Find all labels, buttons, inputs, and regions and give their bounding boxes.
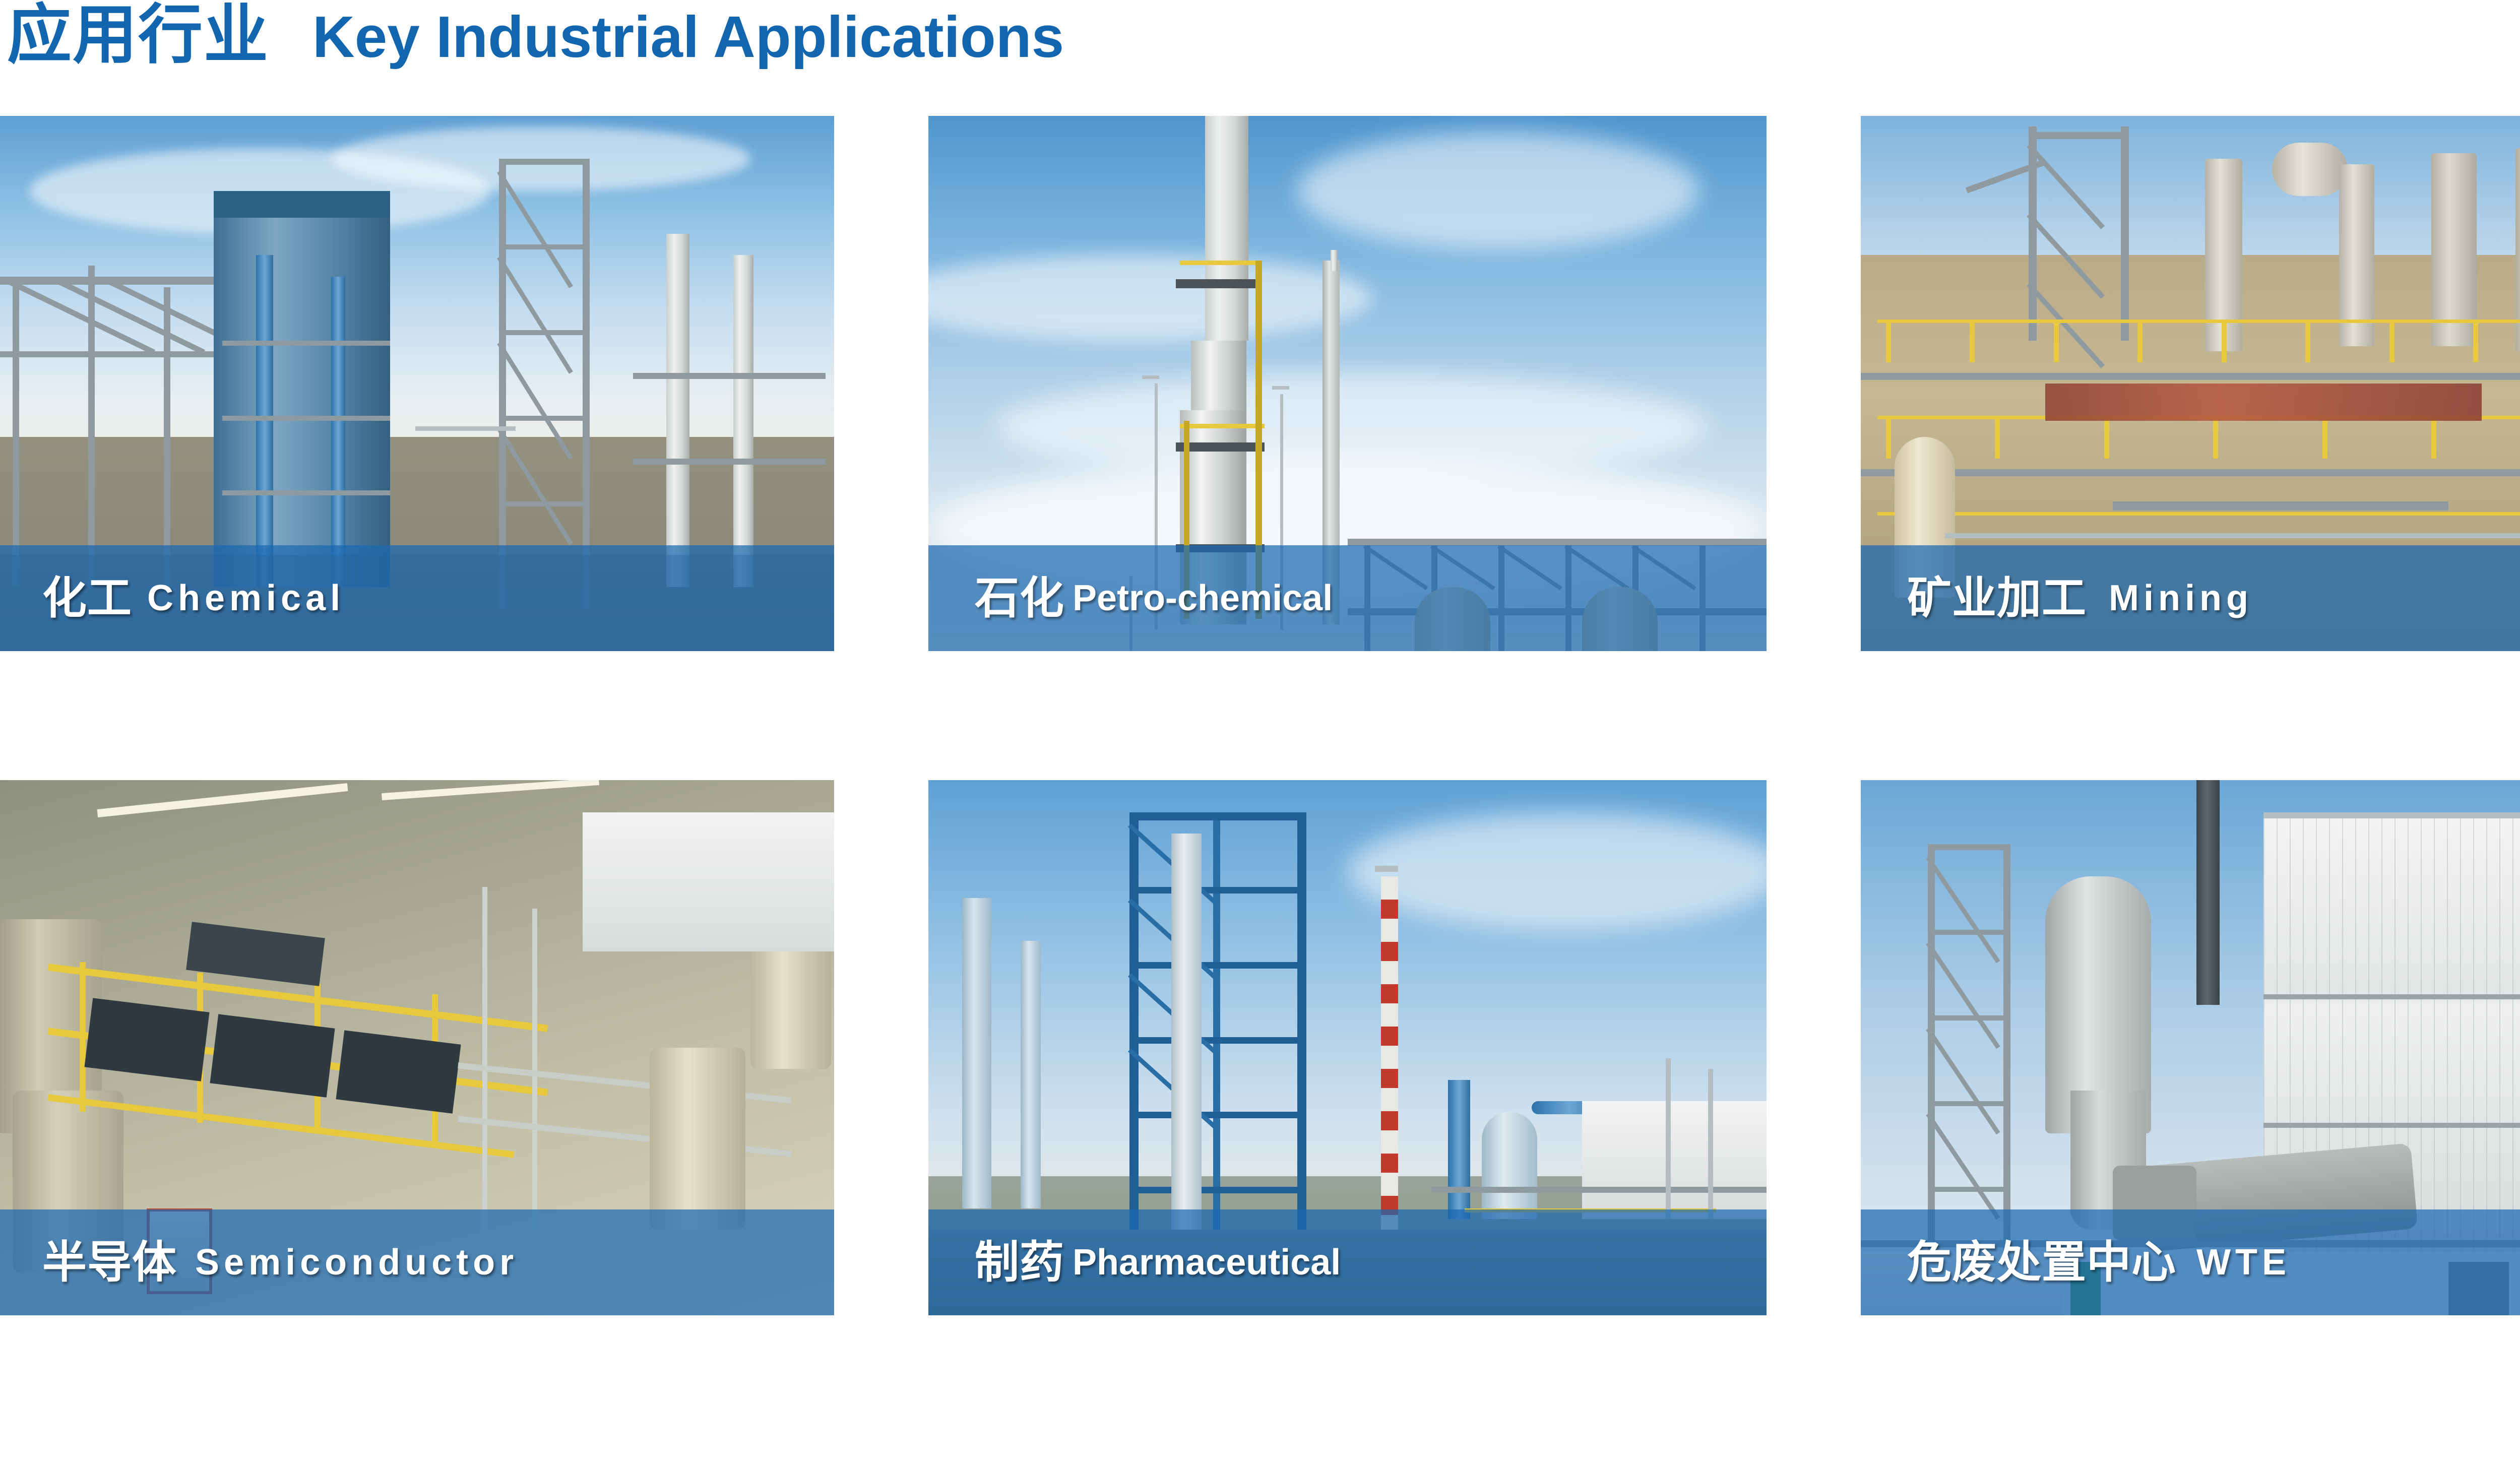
industry-card-mining[interactable]: 矿业加工 Mining — [1861, 116, 2520, 651]
caption-cn-mining: 矿业加工 — [1907, 576, 2087, 620]
caption-bar-pharmaceutical: 制药 Pharmaceutical — [928, 1209, 1767, 1315]
industry-card-pharmaceutical[interactable]: 制药 Pharmaceutical — [928, 780, 1767, 1315]
caption-en-pharmaceutical: Pharmaceutical — [1073, 1244, 1341, 1281]
caption-en-wte: WTE — [2196, 1244, 2291, 1281]
caption-bar-petro-chemical: 石化 Petro-chemical — [928, 545, 1767, 651]
caption-cn-semiconductor: 半导体 — [42, 1240, 177, 1285]
page-title-en: Key Industrial Applications — [312, 8, 1064, 66]
caption-en-petro-chemical: Petro-chemical — [1073, 580, 1333, 616]
caption-en-semiconductor: Semiconductor — [195, 1244, 518, 1281]
caption-bar-chemical: 化工 Chemical — [0, 545, 834, 651]
caption-en-mining: Mining — [2109, 580, 2253, 616]
caption-bar-semiconductor: 半导体 Semiconductor — [0, 1209, 834, 1315]
industry-card-chemical[interactable]: 化工 Chemical — [0, 116, 834, 651]
caption-cn-petro-chemical: 石化 — [975, 576, 1064, 620]
industry-card-wte[interactable]: 危废处置中心 WTE — [1861, 780, 2520, 1315]
caption-bar-wte: 危废处置中心 WTE — [1861, 1209, 2520, 1315]
page-header: 应用行业 Key Industrial Applications — [0, 0, 2520, 116]
industry-card-grid: 化工 Chemical — [0, 116, 2520, 1315]
caption-cn-pharmaceutical: 制药 — [975, 1240, 1064, 1285]
page-title-cn: 应用行业 — [7, 3, 269, 68]
industry-card-petro-chemical[interactable]: 石化 Petro-chemical — [928, 116, 1767, 651]
caption-bar-mining: 矿业加工 Mining — [1861, 545, 2520, 651]
caption-cn-wte: 危废处置中心 — [1907, 1240, 2176, 1285]
caption-cn-chemical: 化工 — [42, 576, 132, 620]
caption-en-chemical: Chemical — [147, 580, 345, 616]
industry-card-semiconductor[interactable]: 半导体 Semiconductor — [0, 780, 834, 1315]
